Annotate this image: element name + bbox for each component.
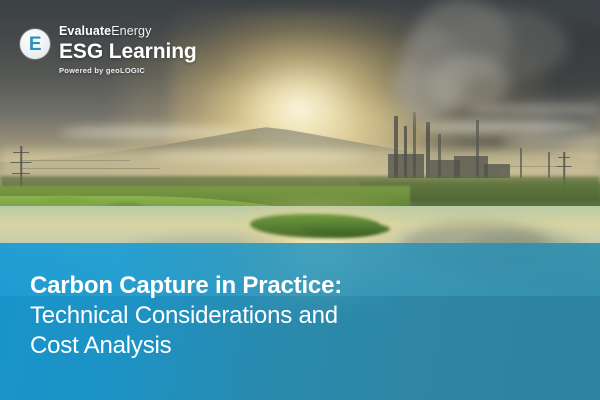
title-line-3: Cost Analysis [30, 331, 580, 361]
product-name: ESG Learning [59, 40, 197, 64]
smokestack [520, 148, 522, 178]
plant-building [454, 156, 488, 178]
brand-name-prefix: Evaluate [59, 24, 111, 38]
pylon-arm [558, 157, 570, 158]
brand-logo-lockup: E EvaluateEnergy ESG Learning Powered by… [20, 25, 197, 75]
title-slide: E EvaluateEnergy ESG Learning Powered by… [0, 0, 600, 400]
power-line [20, 168, 160, 169]
wispy-cloud [150, 150, 370, 162]
smoke-plume [430, 55, 510, 110]
brand-name: EvaluateEnergy [59, 25, 197, 39]
title-line-1: Carbon Capture in Practice: [30, 271, 580, 301]
brand-name-suffix: Energy [111, 24, 151, 38]
plant-building [388, 154, 424, 178]
evaluate-energy-badge-icon: E [20, 29, 50, 59]
logo-text-block: EvaluateEnergy ESG Learning Powered by g… [59, 25, 197, 75]
smokestack [548, 152, 550, 178]
title-line-2: Technical Considerations and [30, 301, 580, 331]
badge-letter: E [29, 35, 41, 54]
power-line [470, 166, 560, 167]
title-block: Carbon Capture in Practice: Technical Co… [30, 271, 580, 361]
brand-tagline: Powered by geoLOGIC [59, 66, 197, 75]
land-spit [300, 222, 390, 236]
pylon-arm [13, 152, 29, 153]
pylon-arm [12, 173, 30, 174]
pylon-arm [11, 162, 32, 163]
title-banner: Carbon Capture in Practice: Technical Co… [0, 243, 600, 400]
power-line [20, 160, 130, 161]
